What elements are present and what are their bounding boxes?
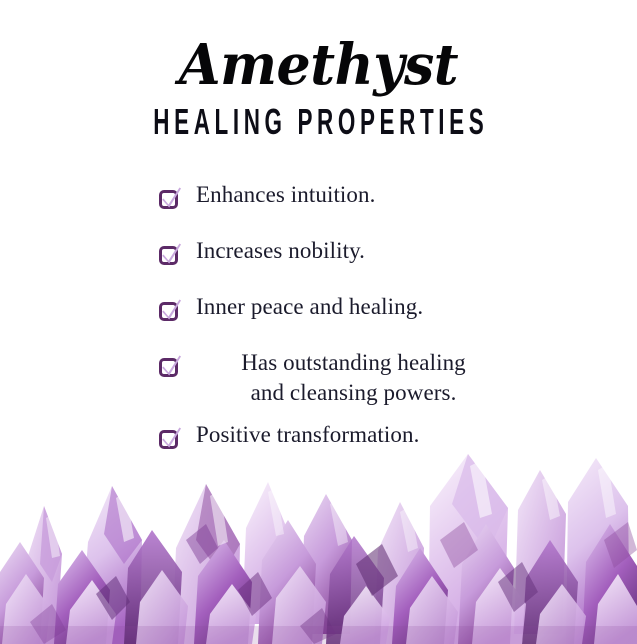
checkmark-glyph <box>161 243 182 266</box>
checked-checkbox-icon <box>159 189 180 210</box>
list-item: Enhances intuition. <box>0 180 637 220</box>
page-title: Amethyst <box>13 34 625 96</box>
list-item-line1: Inner peace and healing. <box>196 294 423 319</box>
list-item-label: Has outstanding healing and cleansing po… <box>0 348 637 408</box>
checked-checkbox-icon <box>159 301 180 322</box>
list-item: Has outstanding healing and cleansing po… <box>0 348 637 408</box>
list-item-label: Enhances intuition. <box>0 180 637 210</box>
poster-canvas: Amethyst HEALING PROPERTIES Enhances int… <box>0 0 637 644</box>
checkmark-glyph <box>161 187 182 210</box>
checkmark-glyph <box>161 299 182 322</box>
checked-checkbox-icon <box>159 357 180 378</box>
list-item-line1: Enhances intuition. <box>196 182 375 207</box>
list-item: Increases nobility. <box>0 236 637 276</box>
list-item-label: Inner peace and healing. <box>0 292 637 322</box>
properties-list: Enhances intuition. Increases nobility. <box>0 180 637 476</box>
checked-checkbox-icon <box>159 245 180 266</box>
list-item-line1: Increases nobility. <box>196 238 365 263</box>
list-item: Inner peace and healing. <box>0 292 637 332</box>
poster-header: Amethyst HEALING PROPERTIES <box>0 0 637 140</box>
list-item-label: Increases nobility. <box>0 236 637 266</box>
crystal-illustration <box>0 444 637 644</box>
checkmark-glyph <box>161 355 182 378</box>
list-item-line1: Has outstanding healing <box>176 348 531 378</box>
amethyst-crystal-cluster <box>0 444 637 644</box>
list-item-line2: and cleansing powers. <box>176 378 531 408</box>
page-subtitle: HEALING PROPERTIES <box>108 102 528 142</box>
